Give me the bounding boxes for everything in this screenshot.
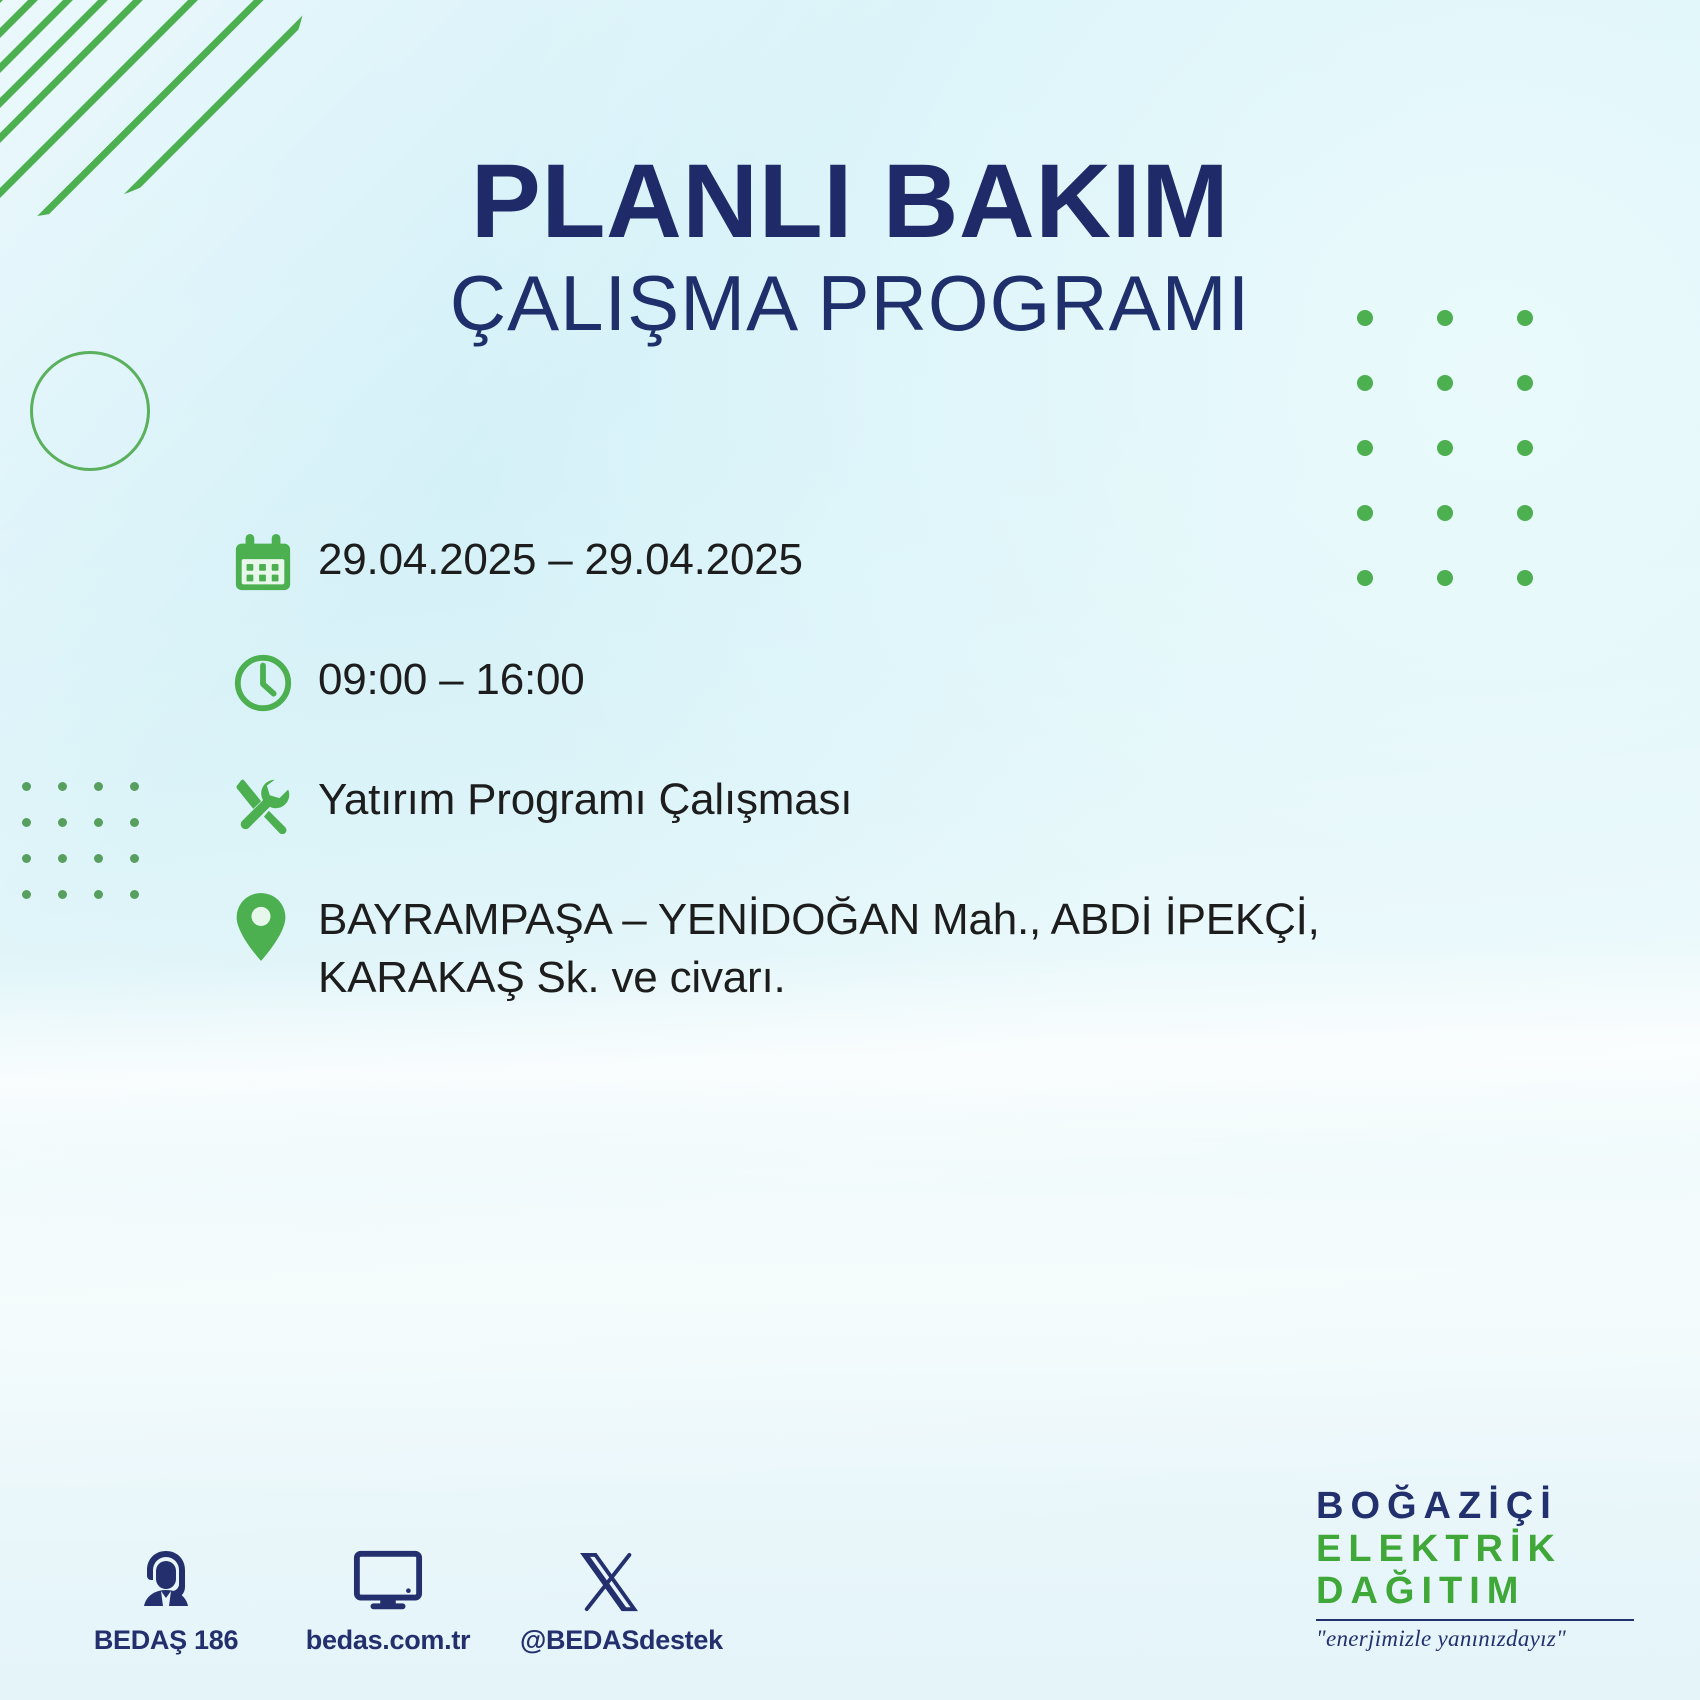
contact-social-label: @BEDASdestek bbox=[520, 1625, 700, 1656]
contact-call-center-label: BEDAŞ 186 bbox=[76, 1625, 256, 1656]
contact-call-center[interactable]: BEDAŞ 186 bbox=[76, 1535, 256, 1656]
dot-grid-left-decoration bbox=[22, 782, 166, 926]
bedas-logo: BOĞAZİÇİ ELEKTRİK DAĞITIM "enerjimizle y… bbox=[1316, 1485, 1646, 1652]
contact-website[interactable]: bedas.com.tr bbox=[298, 1535, 478, 1656]
calendar-icon bbox=[232, 525, 318, 599]
circle-outline-decoration bbox=[30, 351, 150, 471]
brand-line-dagitim: DAĞITIM bbox=[1316, 1570, 1646, 1613]
detail-row-date: 29.04.2025 – 29.04.2025 bbox=[232, 525, 1582, 599]
detail-work-type-value: Yatırım Programı Çalışması bbox=[318, 765, 852, 829]
contact-social[interactable]: @BEDASdestek bbox=[520, 1535, 700, 1656]
monitor-icon bbox=[298, 1535, 478, 1613]
page-title: PLANLI BAKIM bbox=[0, 148, 1700, 255]
page-subtitle: ÇALIŞMA PROGRAMI bbox=[0, 261, 1700, 347]
detail-time-value: 09:00 – 16:00 bbox=[318, 645, 585, 709]
brand-divider bbox=[1316, 1619, 1634, 1621]
x-social-icon bbox=[520, 1535, 700, 1613]
planned-maintenance-poster: PLANLI BAKIM ÇALIŞMA PROGRAMI bbox=[0, 0, 1700, 1700]
footer-contact-list: BEDAŞ 186 bedas.com.tr bbox=[76, 1535, 700, 1656]
detail-row-time: 09:00 – 16:00 bbox=[232, 645, 1582, 719]
poster-footer: BEDAŞ 186 bedas.com.tr bbox=[0, 1442, 1700, 1662]
detail-location-line-2: KARAKAŞ Sk. ve civarı. bbox=[318, 949, 1320, 1007]
brand-line-elektrik: ELEKTRİK bbox=[1316, 1528, 1646, 1571]
poster-header: PLANLI BAKIM ÇALIŞMA PROGRAMI bbox=[0, 148, 1700, 347]
detail-row-work-type: Yatırım Programı Çalışması bbox=[232, 765, 1582, 839]
detail-date-value: 29.04.2025 – 29.04.2025 bbox=[318, 525, 803, 589]
headset-operator-icon bbox=[76, 1535, 256, 1613]
clock-icon bbox=[232, 645, 318, 719]
maintenance-details: 29.04.2025 – 29.04.2025 09:00 – 16:00 Ya… bbox=[232, 525, 1582, 1007]
contact-website-label: bedas.com.tr bbox=[298, 1625, 478, 1656]
detail-location-value: BAYRAMPAŞA – YENİDOĞAN Mah., ABDİ İPEKÇİ… bbox=[318, 885, 1320, 1007]
brand-line-bogazici: BOĞAZİÇİ bbox=[1316, 1485, 1646, 1528]
detail-row-location: BAYRAMPAŞA – YENİDOĞAN Mah., ABDİ İPEKÇİ… bbox=[232, 885, 1582, 1007]
tools-icon bbox=[232, 765, 318, 839]
map-pin-icon bbox=[232, 885, 318, 963]
brand-tagline: "enerjimizle yanınızdayız" bbox=[1316, 1626, 1646, 1652]
detail-location-line-1: BAYRAMPAŞA – YENİDOĞAN Mah., ABDİ İPEKÇİ… bbox=[318, 891, 1320, 949]
